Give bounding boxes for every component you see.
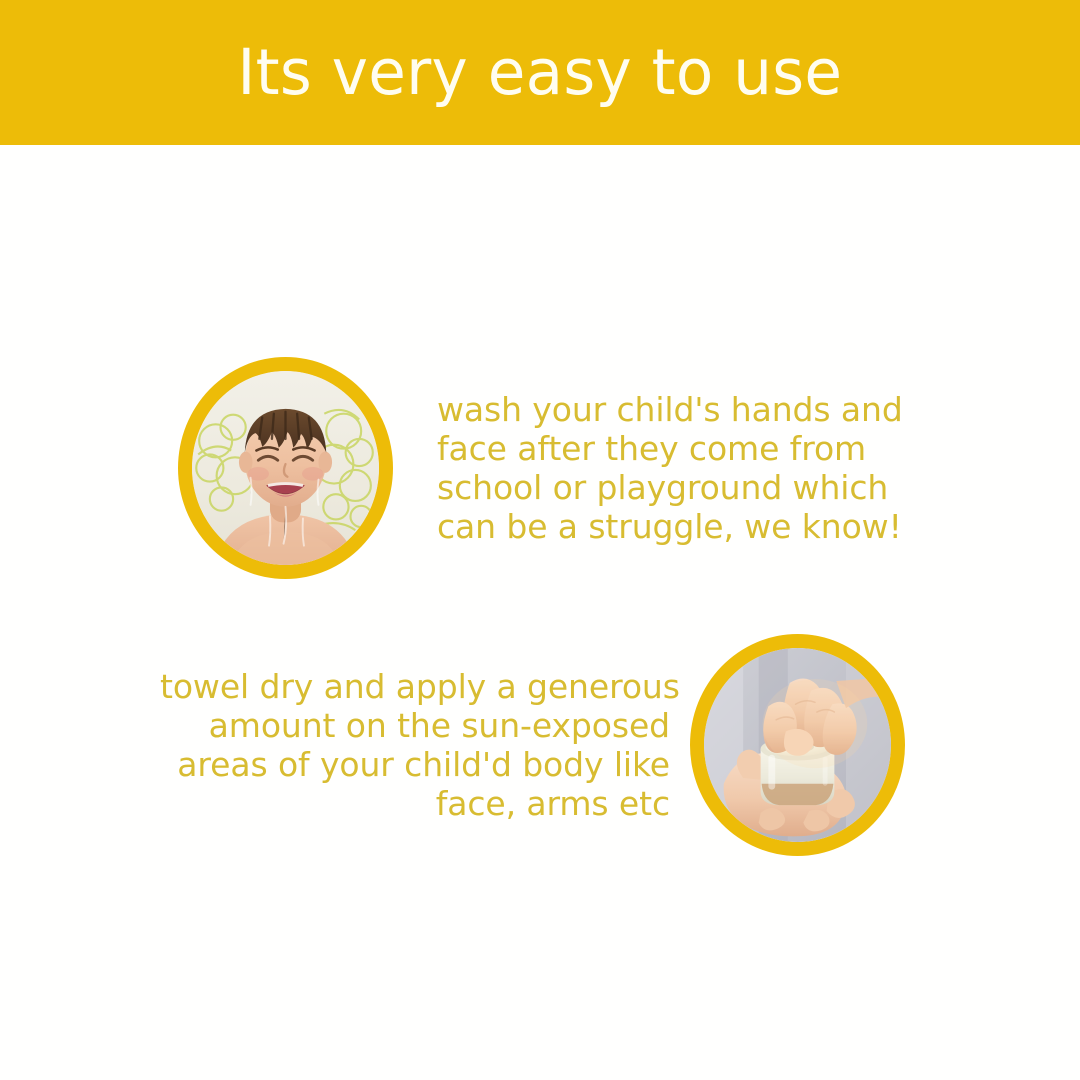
step-wash-line-1: wash your child's hands and <box>437 390 917 429</box>
hands-holding-cream-jar-image <box>704 648 891 842</box>
step-wash-line-3: school or playground which <box>437 468 917 507</box>
step-wash-line-2: face after they come from <box>437 429 917 468</box>
step-apply-line-3: areas of your child'd body like <box>160 745 670 784</box>
step-apply-line-2: amount on the sun-exposed <box>160 706 670 745</box>
step-wash-line-4: can be a struggle, we know! <box>437 507 917 546</box>
step-apply-line-1: towel dry and apply a generous <box>160 667 670 706</box>
step-wash-text: wash your child's hands and face after t… <box>437 390 917 546</box>
page-title: Its very easy to use <box>238 41 843 104</box>
hands-holding-cream-jar-photo <box>690 634 905 856</box>
step-apply: towel dry and apply a generous amount on… <box>160 634 905 856</box>
step-apply-line-4: face, arms etc <box>160 784 670 823</box>
step-wash: wash your child's hands and face after t… <box>178 357 917 579</box>
child-washing-face-photo <box>178 357 393 579</box>
child-washing-face-image <box>192 371 379 565</box>
step-apply-text: towel dry and apply a generous amount on… <box>160 667 670 823</box>
header-banner: Its very easy to use <box>0 0 1080 145</box>
poster-canvas: Its very easy to use <box>0 0 1080 1080</box>
